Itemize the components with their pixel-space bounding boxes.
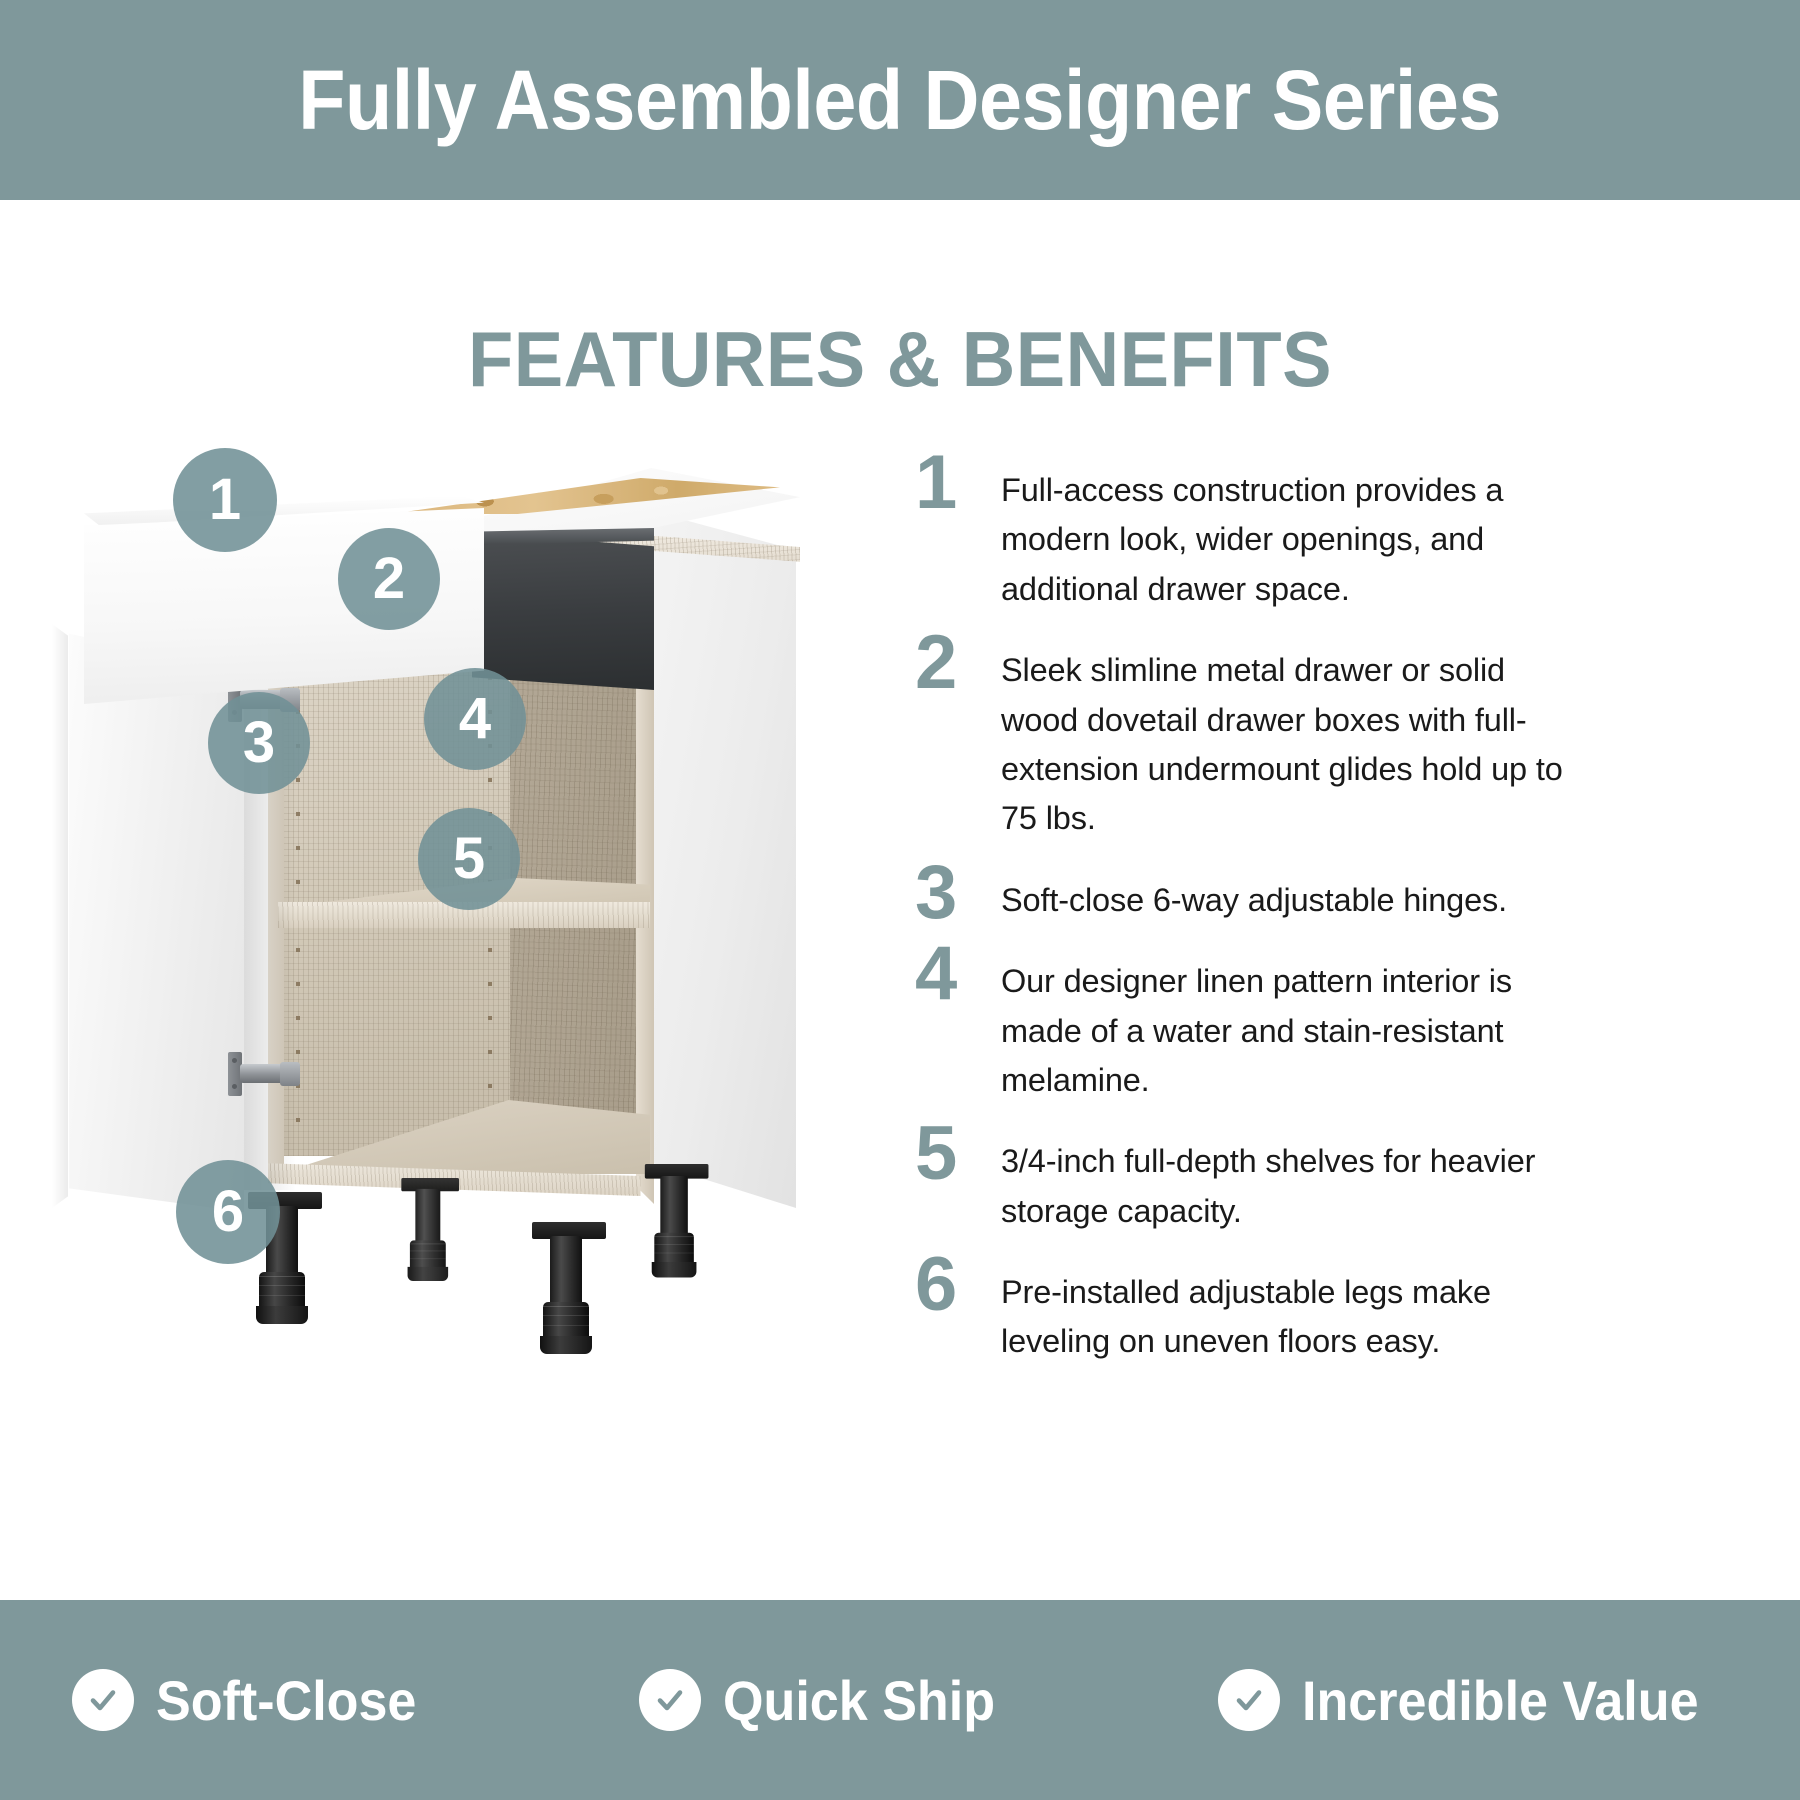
check-circle-icon (639, 1669, 701, 1731)
leg-post (550, 1236, 582, 1310)
leg-foot (540, 1336, 592, 1354)
header-bar: Fully Assembled Designer Series (0, 0, 1800, 200)
feature-item-2: 2 Sleek slimline metal drawer or solid w… (915, 632, 1575, 844)
footer-badge-row: Soft-Close Quick Ship Incredible Value (0, 1668, 1800, 1733)
callout-badge-5: 5 (418, 808, 520, 910)
footer-badge-label: Soft-Close (156, 1668, 416, 1733)
cabinet-door-panel (58, 622, 244, 1212)
leg-post (660, 1176, 688, 1240)
feature-text-2: Sleek slimline metal drawer or solid woo… (1001, 632, 1575, 844)
feature-number-2: 2 (915, 632, 1001, 694)
callout-badge-2: 2 (338, 528, 440, 630)
feature-item-4: 4 Our designer linen pattern interior is… (915, 943, 1575, 1105)
footer-badge-soft-close: Soft-Close (72, 1668, 436, 1733)
soft-close-hinge-bottom (228, 1050, 302, 1098)
leg-foot (408, 1267, 449, 1281)
check-circle-icon (72, 1669, 134, 1731)
feature-item-6: 6 Pre-installed adjustable legs make lev… (915, 1254, 1575, 1367)
feature-text-5: 3/4-inch full-depth shelves for heavier … (1001, 1123, 1575, 1236)
footer-badge-label: Incredible Value (1302, 1668, 1699, 1733)
feature-number-4: 4 (915, 943, 1001, 1005)
callout-badge-6: 6 (176, 1160, 280, 1264)
callout-badge-1: 1 (173, 448, 277, 552)
feature-text-6: Pre-installed adjustable legs make level… (1001, 1254, 1575, 1367)
leg-post (415, 1189, 440, 1247)
cabinet-right-side-panel (640, 508, 796, 1208)
feature-list: 1 Full-access construction provides a mo… (915, 452, 1575, 1385)
feature-number-1: 1 (915, 452, 1001, 514)
feature-item-5: 5 3/4-inch full-depth shelves for heavie… (915, 1123, 1575, 1236)
section-title: FEATURES & BENEFITS (45, 320, 1755, 398)
cabinet-door-outer-edge (52, 624, 68, 1208)
feature-number-6: 6 (915, 1254, 1001, 1316)
footer-bar: Soft-Close Quick Ship Incredible Value (0, 1600, 1800, 1800)
leg-foot (652, 1262, 697, 1277)
footer-badge-label: Quick Ship (723, 1668, 995, 1733)
callout-badge-3: 3 (208, 692, 310, 794)
footer-badge-incredible-value: Incredible Value (1218, 1668, 1728, 1733)
feature-item-3: 3 Soft-close 6-way adjustable hinges. (915, 862, 1575, 925)
hinge-screw (232, 1058, 237, 1063)
infographic-page: Fully Assembled Designer Series FEATURES… (0, 0, 1800, 1800)
feature-number-3: 3 (915, 862, 1001, 924)
feature-text-4: Our designer linen pattern interior is m… (1001, 943, 1575, 1105)
hinge-cup (280, 1062, 300, 1086)
product-illustration (40, 440, 840, 1370)
feature-item-1: 1 Full-access construction provides a mo… (915, 452, 1575, 614)
callout-badge-4: 4 (424, 668, 526, 770)
check-circle-icon (1218, 1669, 1280, 1731)
hinge-screw (232, 1084, 237, 1089)
feature-text-3: Soft-close 6-way adjustable hinges. (1001, 862, 1575, 925)
footer-badge-quick-ship: Quick Ship (639, 1668, 1016, 1733)
feature-text-1: Full-access construction provides a mode… (1001, 452, 1575, 614)
page-title: Fully Assembled Designer Series (299, 58, 1502, 142)
feature-number-5: 5 (915, 1123, 1001, 1185)
leg-foot (256, 1306, 308, 1324)
slimline-metal-drawer-box (472, 532, 654, 690)
